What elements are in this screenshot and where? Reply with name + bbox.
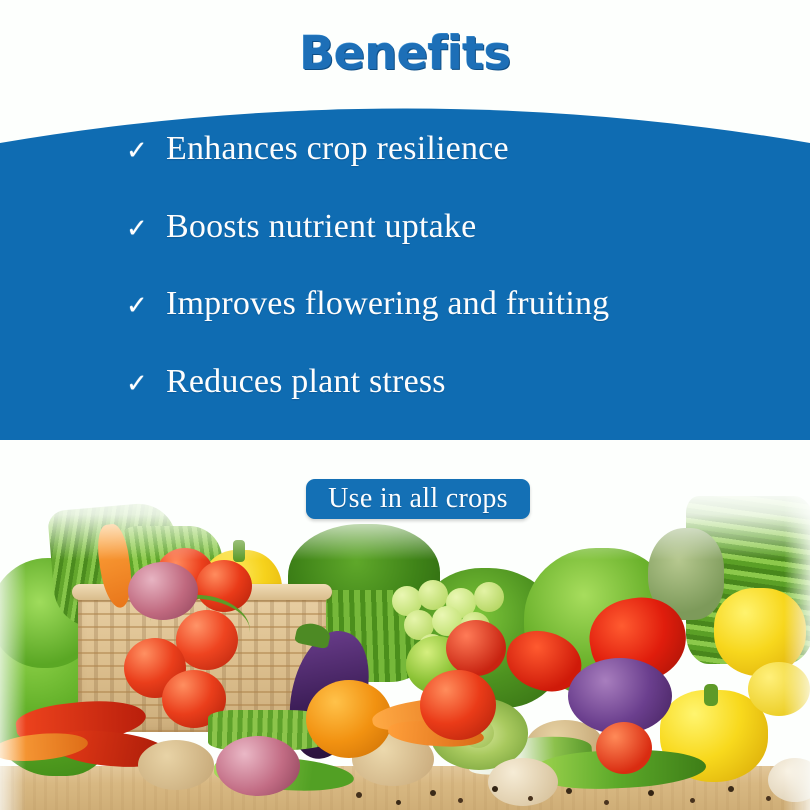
- tomato-right-2: [596, 722, 652, 774]
- check-icon: ✓: [126, 371, 166, 397]
- benefits-list: ✓ Enhances crop resilience ✓ Boosts nutr…: [0, 88, 810, 440]
- benefit-label: Boosts nutrient uptake: [166, 210, 476, 244]
- benefit-label: Enhances crop resilience: [166, 132, 509, 166]
- list-item: ✓ Reduces plant stress: [126, 365, 446, 399]
- yellow-bell-pepper-right-top: [714, 588, 806, 676]
- list-item: ✓ Improves flowering and fruiting: [126, 287, 609, 321]
- tomato-right-1: [420, 670, 496, 740]
- list-item: ✓ Enhances crop resilience: [126, 132, 509, 166]
- page-title-wrap: Benefits: [0, 26, 810, 80]
- check-icon: ✓: [126, 138, 166, 164]
- page-title: Benefits: [299, 26, 510, 80]
- promo-graphic: Benefits ✓ Enhances crop resilience ✓ Bo…: [0, 0, 810, 810]
- use-in-all-crops-badge: Use in all crops: [306, 479, 530, 519]
- peppercorns: [0, 776, 810, 810]
- check-icon: ✓: [126, 293, 166, 319]
- pepper-stem-back: [233, 540, 245, 562]
- badge-label: Use in all crops: [328, 485, 508, 513]
- benefit-label: Reduces plant stress: [166, 365, 446, 399]
- check-icon: ✓: [126, 216, 166, 242]
- red-apple: [446, 620, 506, 676]
- lemon: [748, 662, 810, 716]
- list-item: ✓ Boosts nutrient uptake: [126, 210, 476, 244]
- benefit-label: Improves flowering and fruiting: [166, 287, 609, 321]
- red-onion-left: [128, 562, 198, 620]
- yellow-pepper-stem: [704, 684, 718, 706]
